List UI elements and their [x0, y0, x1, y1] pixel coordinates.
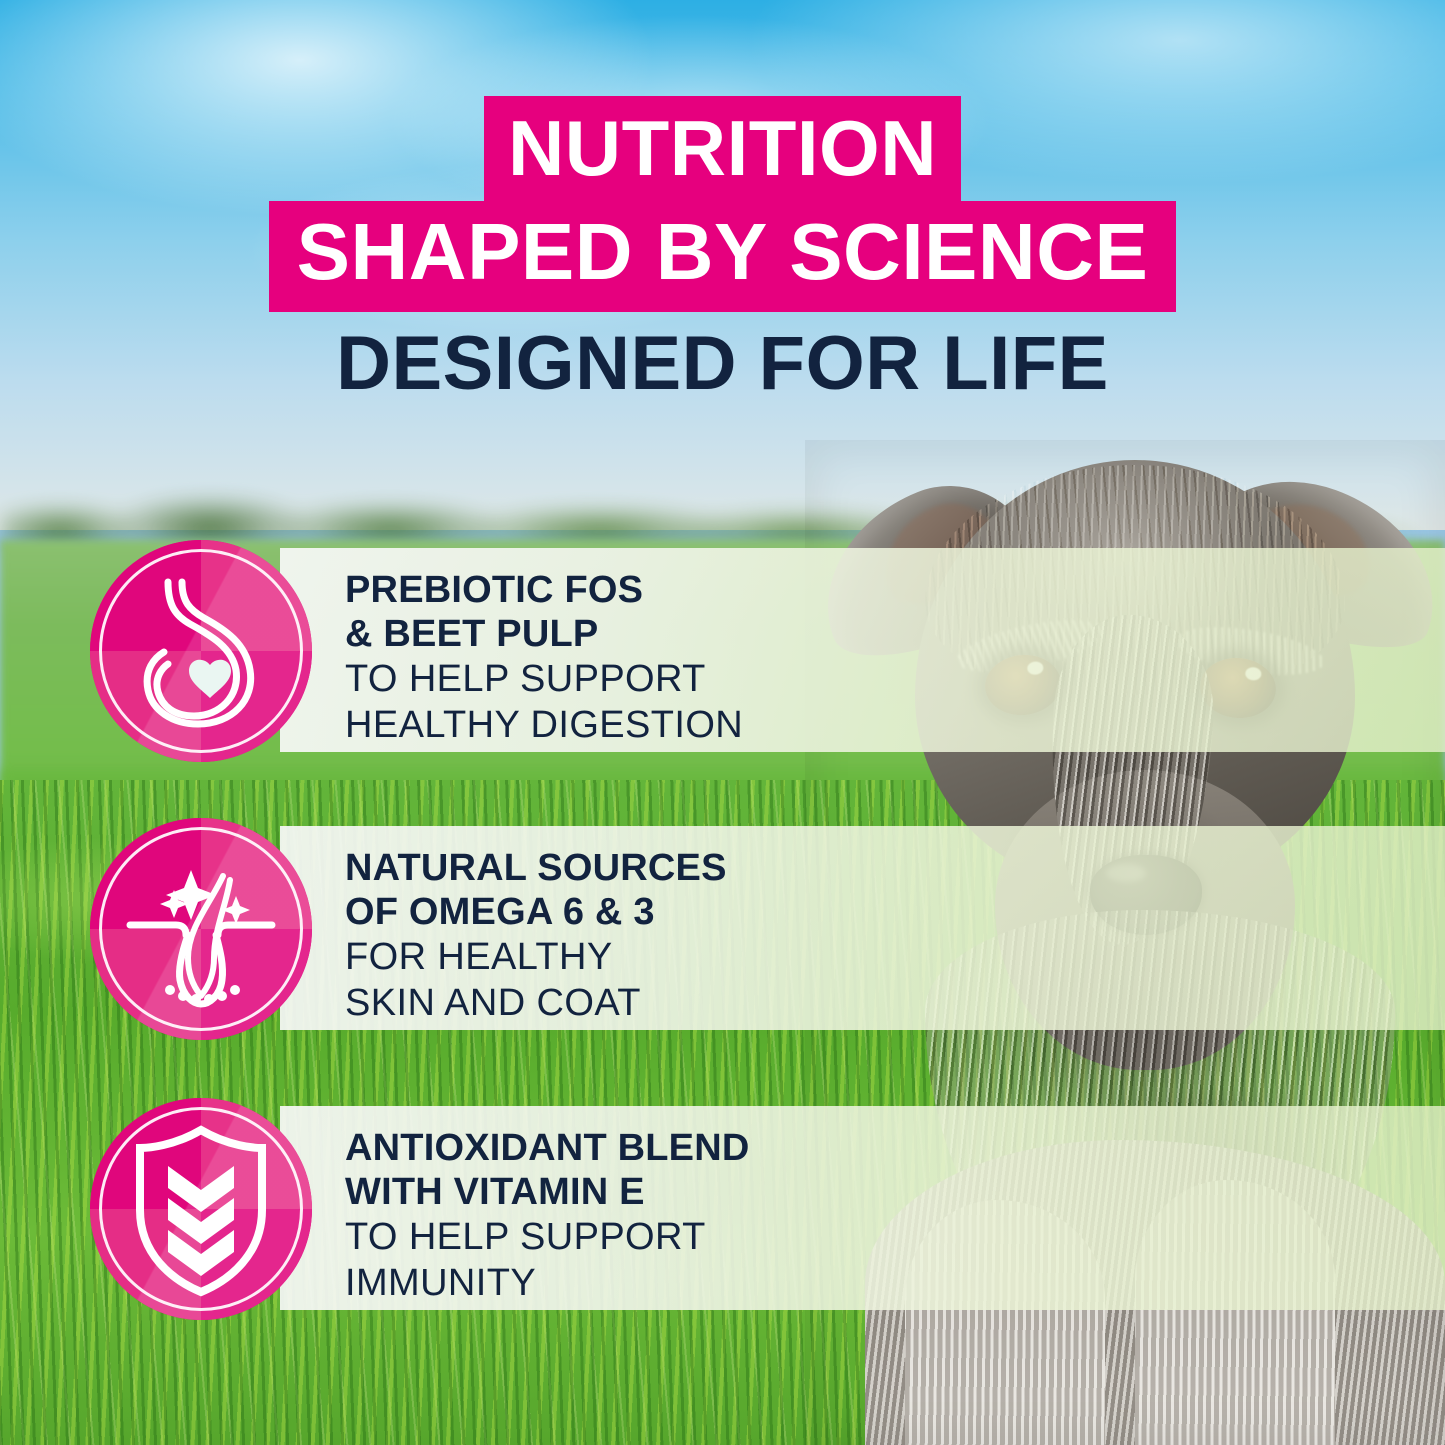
feature-row-antioxidant: ANTIOXIDANT BLEND WITH VITAMIN E TO HELP…	[0, 1098, 1445, 1318]
shield-chevrons-icon	[90, 1098, 312, 1320]
feature-reg-line-2: HEALTHY DIGESTION	[345, 703, 905, 749]
feature-reg-line-1: FOR HEALTHY	[345, 935, 905, 981]
feature-row-omega: NATURAL SOURCES OF OMEGA 6 & 3 FOR HEALT…	[0, 818, 1445, 1038]
feature-reg-line-1: TO HELP SUPPORT	[345, 657, 905, 703]
feature-bold-line-2: OF OMEGA 6 & 3	[345, 890, 905, 934]
feature-bold-line-1: NATURAL SOURCES	[345, 846, 905, 890]
feature-bold-line-1: PREBIOTIC FOS	[345, 568, 905, 612]
headline-block: NUTRITION SHAPED BY SCIENCE DESIGNED FOR…	[0, 96, 1445, 402]
feature-text-antioxidant: ANTIOXIDANT BLEND WITH VITAMIN E TO HELP…	[345, 1126, 905, 1306]
feature-bold-line-1: ANTIOXIDANT BLEND	[345, 1126, 905, 1170]
headline-line-3: DESIGNED FOR LIFE	[0, 326, 1445, 402]
feature-reg-line-1: TO HELP SUPPORT IMMUNITY	[345, 1215, 905, 1306]
headline-line-2: SHAPED BY SCIENCE	[269, 201, 1177, 311]
headline-line-1: NUTRITION	[484, 96, 961, 204]
feature-reg-line-2: SKIN AND COAT	[345, 981, 905, 1027]
feature-text-omega: NATURAL SOURCES OF OMEGA 6 & 3 FOR HEALT…	[345, 846, 905, 1026]
feature-bold-line-2: & BEET PULP	[345, 612, 905, 656]
stomach-heart-icon	[90, 540, 312, 762]
feature-text-prebiotic: PREBIOTIC FOS & BEET PULP TO HELP SUPPOR…	[345, 568, 905, 748]
feature-row-prebiotic: PREBIOTIC FOS & BEET PULP TO HELP SUPPOR…	[0, 540, 1445, 760]
feature-bold-line-2: WITH VITAMIN E	[345, 1170, 905, 1214]
hair-follicle-sparkle-icon	[90, 818, 312, 1040]
